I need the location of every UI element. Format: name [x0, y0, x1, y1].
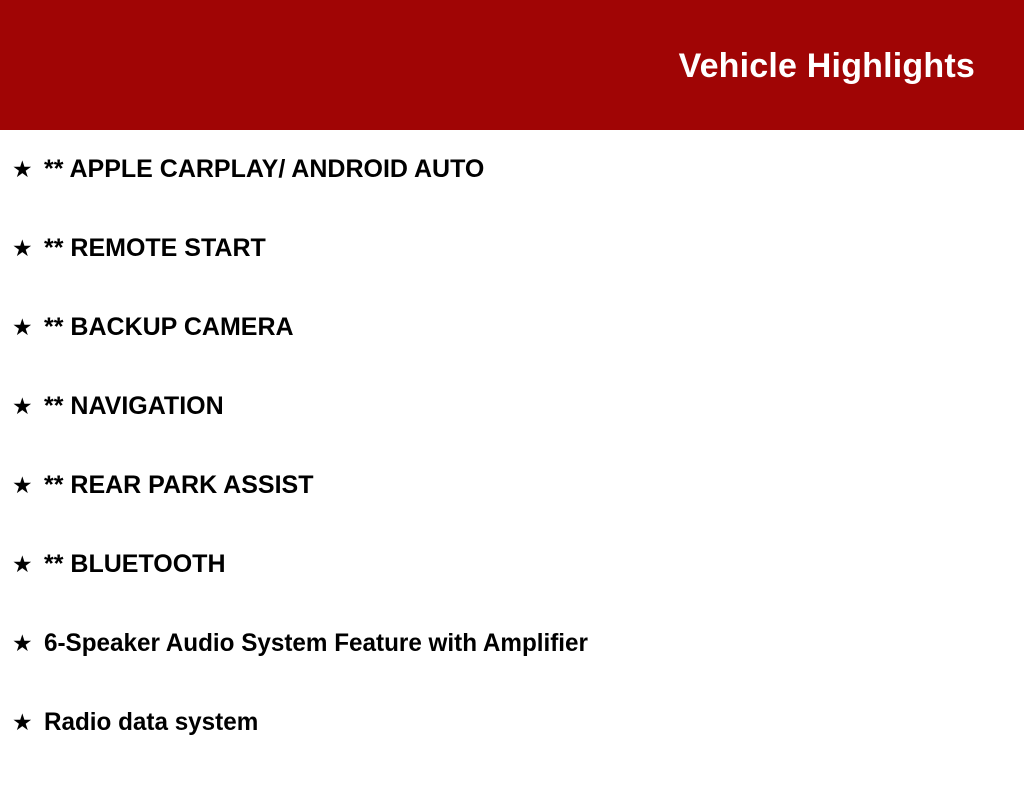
star-icon: ★	[12, 475, 44, 498]
header-banner: Vehicle Highlights	[0, 0, 1024, 130]
list-item: ★ ** APPLE CARPLAY/ ANDROID AUTO	[0, 130, 1024, 236]
vehicle-highlights-list: ★ ** APPLE CARPLAY/ ANDROID AUTO ★ ** RE…	[0, 130, 1024, 789]
list-item-label: ** APPLE CARPLAY/ ANDROID AUTO	[44, 157, 484, 182]
list-item-label: ** BLUETOOTH	[44, 552, 226, 577]
page-title: Vehicle Highlights	[679, 49, 975, 83]
list-item-label: 6-Speaker Audio System Feature with Ampl…	[44, 631, 588, 656]
list-item: ★ ** BLUETOOTH	[0, 552, 1024, 631]
star-icon: ★	[12, 554, 44, 577]
list-item: ★ ** REMOTE START	[0, 236, 1024, 315]
star-icon: ★	[12, 159, 44, 182]
list-item: ★ Radio data system	[0, 710, 1024, 789]
star-icon: ★	[12, 317, 44, 340]
list-item-label: ** REMOTE START	[44, 236, 266, 261]
star-icon: ★	[12, 396, 44, 419]
list-item: ★ ** NAVIGATION	[0, 394, 1024, 473]
star-icon: ★	[12, 238, 44, 261]
list-item-label: ** NAVIGATION	[44, 394, 224, 419]
star-icon: ★	[12, 633, 44, 656]
vehicle-highlights-page: Vehicle Highlights ★ ** APPLE CARPLAY/ A…	[0, 0, 1024, 768]
list-item-label: ** REAR PARK ASSIST	[44, 473, 313, 498]
star-icon: ★	[12, 712, 44, 735]
list-item: ★ ** BACKUP CAMERA	[0, 315, 1024, 394]
list-item: ★ 6-Speaker Audio System Feature with Am…	[0, 631, 1024, 710]
list-item-label: ** BACKUP CAMERA	[44, 315, 294, 340]
list-item-label: Radio data system	[44, 710, 258, 735]
list-item: ★ ** REAR PARK ASSIST	[0, 473, 1024, 552]
